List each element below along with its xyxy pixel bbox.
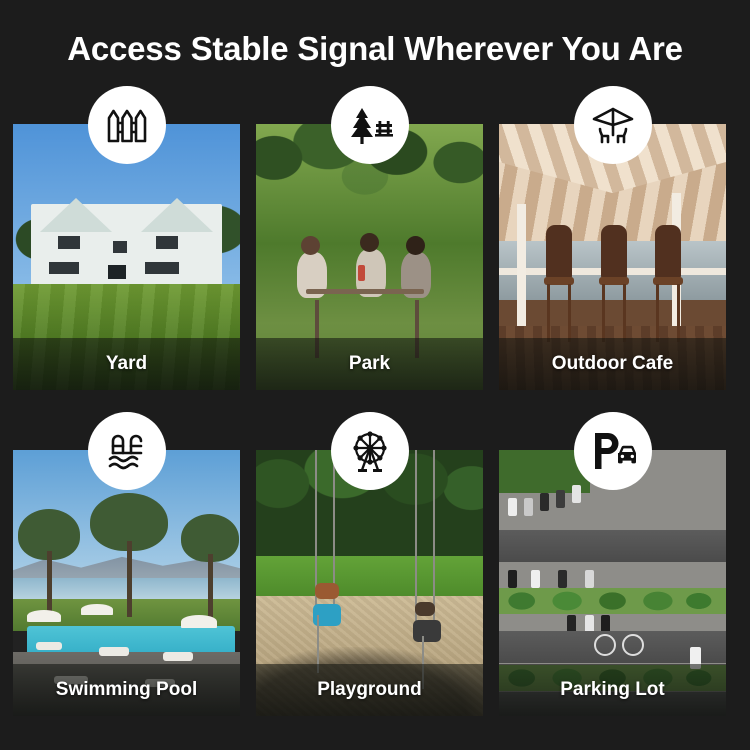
card-label-parking-lot: Parking Lot [499,664,726,716]
card-label-outdoor-cafe: Outdoor Cafe [499,338,726,390]
ferris-wheel-icon [347,428,393,474]
location-card-playground[interactable]: Playground [256,450,483,716]
pool-ladder-icon-badge [88,412,166,490]
card-label-swimming-pool: Swimming Pool [13,664,240,716]
tree-bench-icon-badge [331,86,409,164]
patio-umbrella-icon [589,105,637,145]
pool-ladder-icon [103,431,151,471]
card-label-playground: Playground [256,664,483,716]
promo-graphic: Access Stable Signal Wherever You Are [0,0,750,750]
fence-icon [104,104,150,146]
location-card-outdoor-cafe[interactable]: Outdoor Cafe [499,124,726,390]
parking-car-icon-badge [574,412,652,490]
card-label-yard: Yard [13,338,240,390]
card-label-park: Park [256,338,483,390]
page-title: Access Stable Signal Wherever You Are [0,30,750,68]
location-card-park[interactable]: Park [256,124,483,390]
location-card-parking-lot[interactable]: Parking Lot [499,450,726,716]
fence-icon-badge [88,86,166,164]
patio-umbrella-icon-badge [574,86,652,164]
tree-bench-icon [346,104,394,146]
location-card-swimming-pool[interactable]: Swimming Pool [13,450,240,716]
location-card-yard[interactable]: Yard [13,124,240,390]
parking-car-icon [589,429,637,473]
location-card-grid: Yard [13,124,737,716]
ferris-wheel-icon-badge [331,412,409,490]
